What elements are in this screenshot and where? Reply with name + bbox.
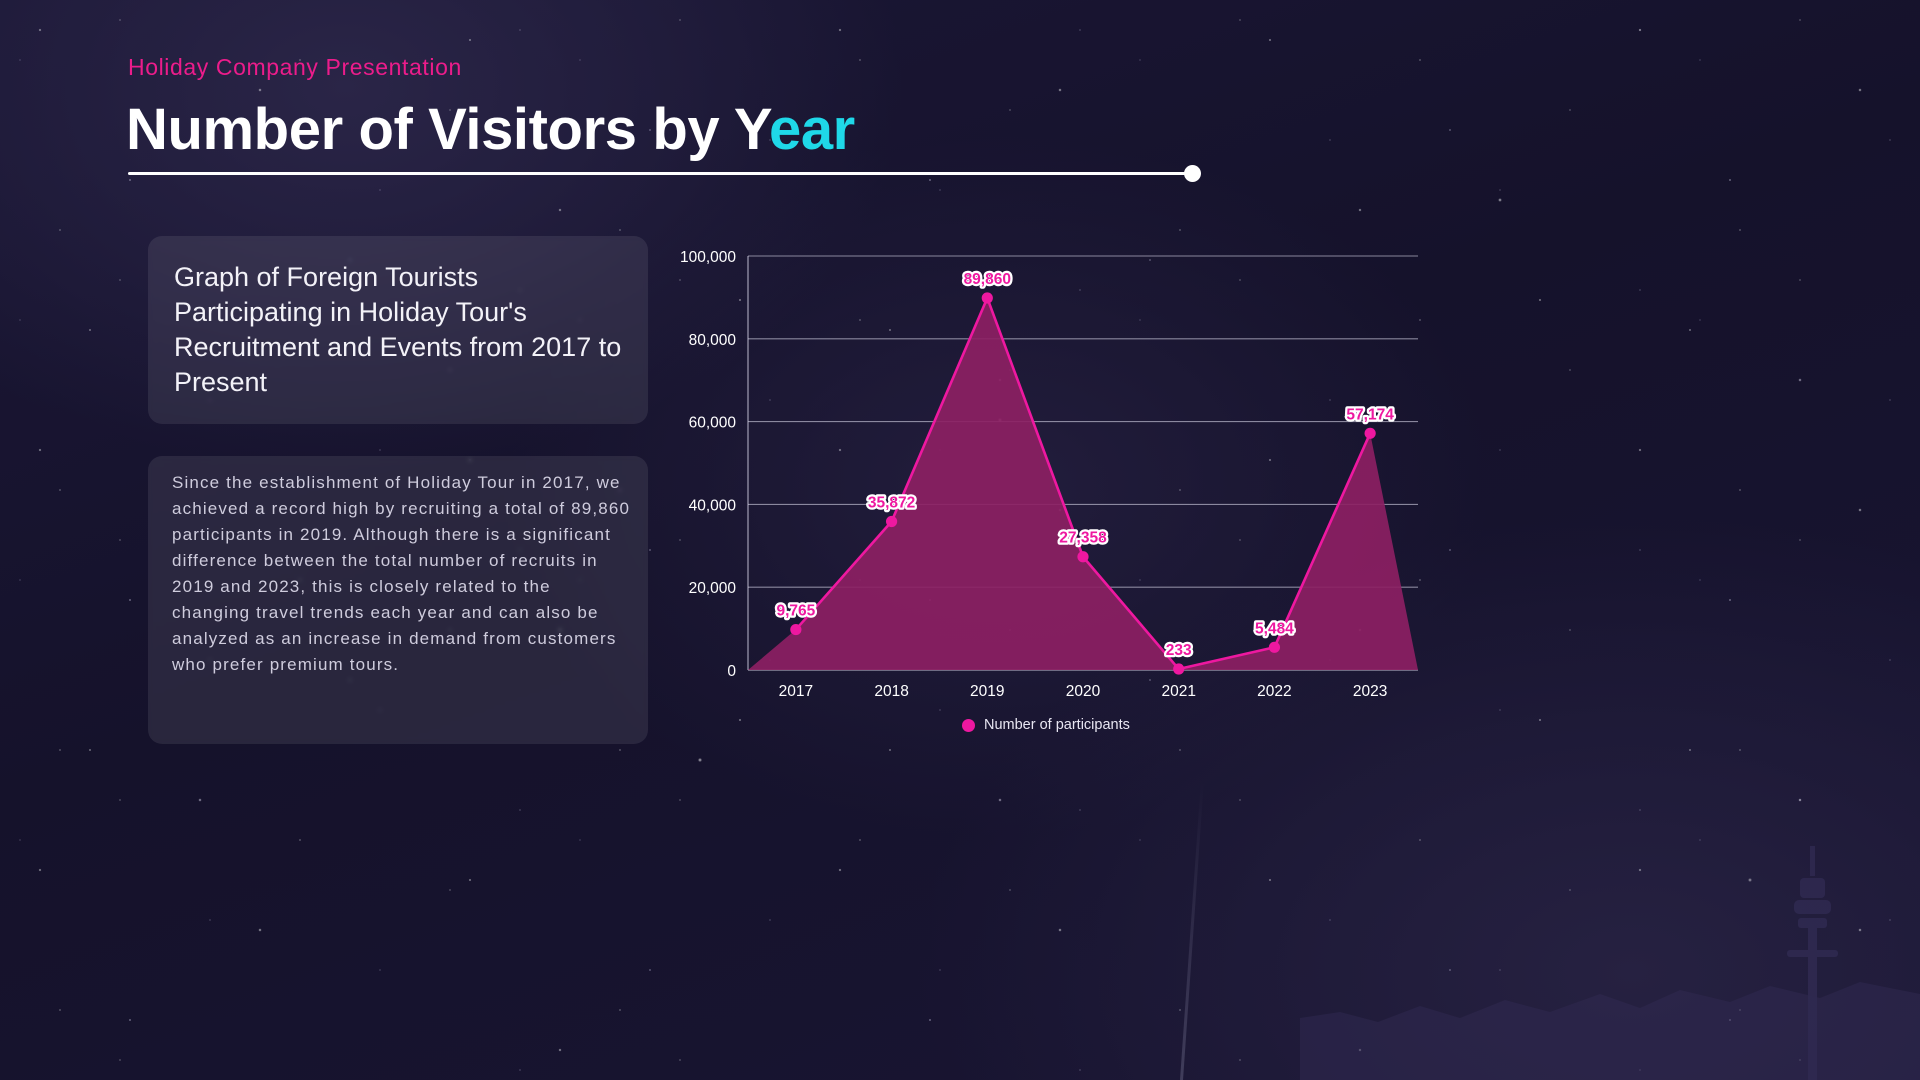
y-axis-tick-label: 60,000: [689, 415, 737, 432]
x-axis-tick-label: 2023: [1353, 683, 1387, 700]
chart-canvas: 020,00040,00060,00080,000100,0009,7659,7…: [680, 230, 1440, 760]
legend-marker-icon: [962, 719, 975, 732]
data-point-marker[interactable]: [1269, 642, 1280, 653]
page-title-accent: ear: [769, 97, 855, 162]
y-axis-tick-label: 100,000: [680, 249, 736, 266]
y-axis-tick-label: 0: [727, 663, 736, 680]
description-card: Graph of Foreign Tourists Participating …: [148, 236, 648, 424]
data-label: 233: [1166, 642, 1192, 659]
legend-label: Number of participants: [984, 717, 1130, 733]
x-axis-tick-label: 2017: [779, 683, 813, 700]
data-point-marker[interactable]: [1365, 428, 1376, 439]
analysis-card: Since the establishment of Holiday Tour …: [148, 456, 648, 744]
title-underline-end-dot: [1184, 165, 1201, 182]
data-label: 5,484: [1255, 620, 1294, 637]
page-title: Number of Visitors by Year: [126, 96, 855, 163]
x-axis-tick-label: 2021: [1161, 683, 1195, 700]
data-label: 57,174: [1346, 406, 1394, 423]
data-label: 27,358: [1059, 530, 1107, 547]
data-label: 89,860: [964, 271, 1011, 288]
eyebrow-label: Holiday Company Presentation: [128, 54, 462, 81]
y-axis-tick-label: 20,000: [689, 580, 737, 597]
data-point-marker[interactable]: [790, 624, 801, 635]
x-axis-tick-label: 2020: [1066, 683, 1101, 700]
area-fill: [748, 298, 1418, 670]
x-axis-tick-label: 2018: [874, 683, 908, 700]
x-axis-tick-label: 2019: [970, 683, 1004, 700]
y-axis-tick-label: 80,000: [689, 332, 737, 349]
x-axis-tick-label: 2022: [1257, 683, 1291, 700]
data-point-marker[interactable]: [886, 516, 897, 527]
data-point-marker[interactable]: [1173, 663, 1184, 674]
data-point-marker[interactable]: [982, 292, 993, 303]
city-skyline-silhouette: [1300, 750, 1920, 1080]
title-underline: [128, 172, 1194, 175]
data-label: 35,872: [868, 494, 915, 511]
page-title-main: Number of Visitors by Y: [126, 97, 769, 162]
chart-legend: Number of participants: [962, 717, 1130, 733]
data-label: 9,765: [776, 603, 815, 620]
data-point-marker[interactable]: [1077, 551, 1088, 562]
description-heading-text: Graph of Foreign Tourists Participating …: [174, 260, 630, 400]
y-axis-tick-label: 40,000: [689, 497, 737, 514]
analysis-body-text: Since the establishment of Holiday Tour …: [172, 470, 632, 678]
visitors-area-chart: 020,00040,00060,00080,000100,0009,7659,7…: [680, 230, 1440, 760]
